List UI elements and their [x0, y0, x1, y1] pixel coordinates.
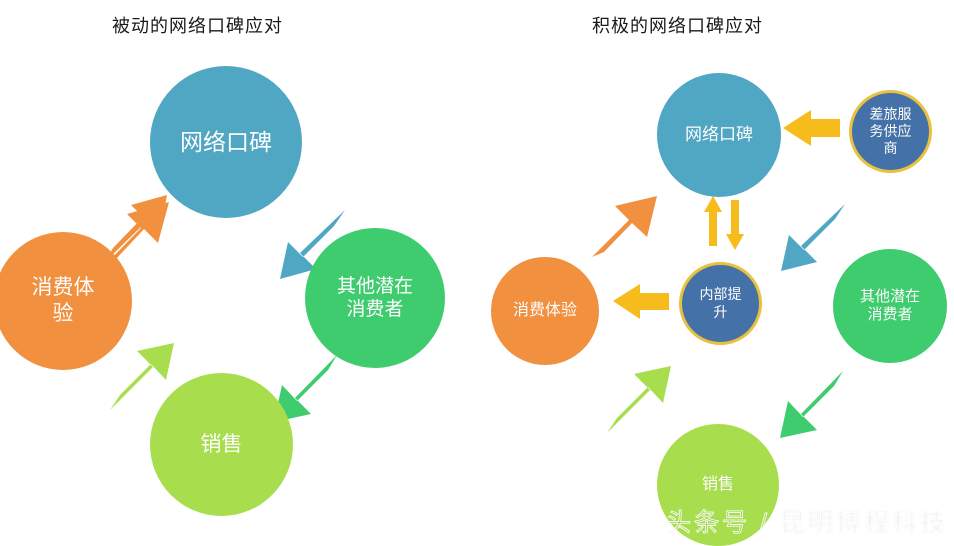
bubble-experience-passive[interactable]: 消费体验: [0, 232, 132, 370]
arrow-other-to-sales-right: [780, 371, 843, 438]
bubble-other-consumers-active[interactable]: 其他潜在消费者: [833, 249, 947, 363]
bubble-label: 销售: [195, 432, 249, 458]
bubble-sales-active[interactable]: 销售: [657, 424, 779, 546]
arrow-experience-to-wom-right: [592, 196, 657, 257]
bubble-label: 差旅服务供应商: [861, 106, 921, 157]
arrow-wom-to-other-right: [781, 204, 845, 271]
bubble-label: 网络口碑: [174, 128, 278, 156]
bubble-label: 内部提升: [691, 286, 751, 320]
bubble-label: 销售: [696, 475, 740, 495]
bubble-internal-active[interactable]: 内部提升: [679, 262, 762, 345]
arrow-internal-to-wom-right: [704, 196, 722, 246]
bubble-word-of-mouth-active[interactable]: 网络口碑: [657, 73, 781, 197]
bubble-supplier-active[interactable]: 差旅服务供应商: [849, 90, 932, 173]
arrow-sales-to-experience-right: [607, 366, 671, 433]
bubble-experience-active[interactable]: 消费体验: [491, 257, 599, 365]
arrow-internal-to-experience-right: [613, 284, 669, 319]
bubble-label: 消费体验: [507, 301, 583, 321]
bubble-label: 其他潜在消费者: [328, 275, 422, 321]
bubble-sales-passive[interactable]: 销售: [150, 373, 293, 516]
bubble-other-consumers-passive[interactable]: 其他潜在消费者: [305, 228, 445, 368]
arrow-supplier-to-wom-right: [783, 110, 840, 146]
arrow-layer: [0, 0, 954, 545]
bubble-word-of-mouth-passive[interactable]: 网络口碑: [150, 66, 302, 218]
bubble-label: 网络口碑: [679, 125, 759, 146]
diagram-canvas: 被动的网络口碑应对 积极的网络口碑应对: [0, 0, 954, 545]
arrow-wom-to-internal-right: [726, 200, 744, 250]
bubble-label: 消费体验: [21, 275, 105, 326]
bubble-label: 其他潜在消费者: [851, 288, 929, 325]
